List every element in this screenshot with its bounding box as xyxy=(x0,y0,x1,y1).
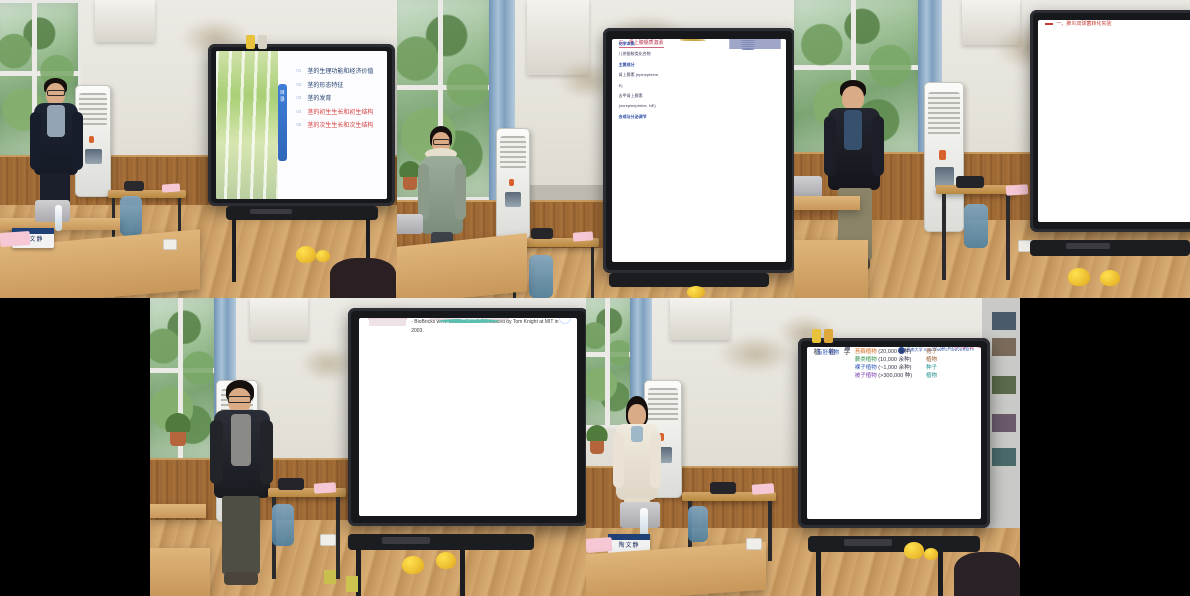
board-screen[interactable]: 植 物 学 西南大学 SOUTHWEST UNIVERSITY 高等植物 有胚植… xyxy=(807,347,982,520)
bag-on-table xyxy=(278,478,304,490)
tree-row: 蕨类植物 (10,000 余种) xyxy=(855,355,920,363)
laptop xyxy=(794,176,822,198)
nameplate-bar xyxy=(608,534,650,540)
note-line: 去甲肾上腺素 (norepinephrine, NE) xyxy=(619,91,664,112)
water-jug xyxy=(688,506,708,542)
keyboard xyxy=(250,209,292,214)
toc-num: 04 xyxy=(296,109,301,114)
table-leg xyxy=(1006,194,1010,280)
classroom-scene-2: 三、肾上腺髓质激素 化学本质 儿茶酚胺类化合物 主要成分 肾上腺素 (epine… xyxy=(397,0,794,298)
inner-sweater xyxy=(47,105,65,137)
panel-bottom-right: 陶文静 植 物 学 西南大学 SOUTHWE xyxy=(586,298,1020,596)
presenter-person xyxy=(30,78,88,208)
wall-stain xyxy=(300,346,355,382)
note-line: 肾上腺素 (epinephrine, E) xyxy=(619,70,664,91)
head xyxy=(842,86,864,110)
glasses-icon xyxy=(433,139,450,145)
bag-on-table xyxy=(531,228,553,239)
toc-num: 01 xyxy=(296,68,301,73)
photo-collage: 陶文静 目录 01茎的生理功能和经济价值 02茎的形态特征 03茎的发育 xyxy=(0,0,1190,596)
keyboard xyxy=(844,539,892,546)
board-console xyxy=(609,273,769,287)
interactive-whiteboard[interactable]: 微生物的遗传变异与育种 一、肺炎双球菌转化实验 xyxy=(1030,10,1190,232)
board-screen[interactable]: 目录 01茎的生理功能和经济价值 02茎的形态特征 03茎的发育 04茎的初生生… xyxy=(216,51,386,198)
wall-photo xyxy=(992,448,1016,466)
pink-card xyxy=(573,231,594,241)
power-outlet xyxy=(163,239,177,250)
marker-pen xyxy=(824,329,833,343)
pink-paper xyxy=(586,537,612,553)
glasses-icon xyxy=(47,90,65,96)
slide-subheader: 一、肺炎双球菌转化实验 xyxy=(1045,20,1111,27)
yellow-helmet xyxy=(316,250,330,262)
audience-head xyxy=(330,258,396,298)
toc-item: 01茎的生理功能和经济价值 xyxy=(296,66,379,75)
box xyxy=(324,570,336,584)
arm-right xyxy=(260,420,273,484)
ac-display xyxy=(505,192,521,207)
yellow-helmet xyxy=(687,286,705,298)
toc-item: 02茎的形态特征 xyxy=(296,80,379,89)
panel-top-left: 陶文静 目录 01茎的生理功能和经济价值 02茎的形态特征 03茎的发育 xyxy=(0,0,397,298)
yellow-helmet xyxy=(924,548,938,560)
toc-item: 03茎的发育 xyxy=(296,93,379,102)
arm-right xyxy=(650,432,661,488)
box xyxy=(346,576,358,592)
arm-left xyxy=(210,420,223,484)
interactive-whiteboard[interactable]: 三、肾上腺髓质激素 化学本质 儿茶酚胺类化合物 主要成分 肾上腺素 (epine… xyxy=(603,28,794,273)
wall-photo xyxy=(992,414,1016,432)
arm-left xyxy=(30,112,41,170)
wall-photo xyxy=(992,376,1016,394)
group-label-vascular: 维管植物 xyxy=(960,347,972,351)
keyboard xyxy=(382,537,430,544)
pathway-step xyxy=(729,47,781,49)
board-console xyxy=(1030,240,1190,256)
air-conditioner xyxy=(496,128,530,240)
power-outlet xyxy=(320,534,336,546)
board-screen[interactable]: 微生物的遗传变异与育种 一、肺炎双球菌转化实验 xyxy=(1038,20,1190,222)
slide-side-table xyxy=(368,318,407,320)
classroom-scene-5: 陶文静 植 物 学 西南大学 SOUTHWE xyxy=(586,298,1020,596)
toc-text: 茎的次生生长和次生结构 xyxy=(307,120,373,129)
nerve-illustration xyxy=(680,39,706,41)
shoes xyxy=(224,572,258,585)
board-console xyxy=(226,206,378,220)
board-leg xyxy=(460,550,465,596)
front-desk xyxy=(794,196,860,210)
arm-right xyxy=(72,112,83,170)
yellow-helmet xyxy=(402,556,424,574)
bag-on-table xyxy=(956,176,984,188)
interactive-whiteboard[interactable]: 植 物 学 西南大学 SOUTHWEST UNIVERSITY 高等植物 有胚植… xyxy=(798,338,990,528)
note-line: 主要成分 xyxy=(619,60,664,70)
slide-left-notes: 化学本质 儿茶酚胺类化合物 主要成分 肾上腺素 (epinephrine, E)… xyxy=(619,39,664,122)
tree-row: 苔藓植物 (20,000 余种) xyxy=(855,347,920,355)
arm-right xyxy=(872,116,884,176)
slide-toc: 目录 01茎的生理功能和经济价值 02茎的形态特征 03茎的发育 04茎的初生生… xyxy=(216,51,386,198)
tree-row: 被子植物 (>300,000 种) xyxy=(855,371,920,379)
brace-icon xyxy=(845,347,850,349)
toc-text: 茎的发育 xyxy=(307,93,331,102)
table-leg xyxy=(768,501,772,561)
yellow-helmet xyxy=(1100,270,1120,286)
table-row xyxy=(369,325,406,326)
board-screen[interactable]: 三、肾上腺髓质激素 化学本质 儿茶酚胺类化合物 主要成分 肾上腺素 (epine… xyxy=(612,39,787,262)
wall-soffit xyxy=(95,0,155,42)
classroom-scene-3: 微生物的遗传变异与育种 一、肺炎双球菌转化实验 xyxy=(794,0,1190,298)
letterbox-right xyxy=(1020,298,1190,596)
toc-item: 05茎的次生生长和次生结构 xyxy=(296,120,379,129)
front-desk xyxy=(150,504,206,518)
board-leg xyxy=(816,552,821,596)
power-outlet xyxy=(746,538,762,550)
toc-text: 茎的形态特征 xyxy=(307,80,343,89)
water-jug xyxy=(529,255,553,298)
inner-shirt xyxy=(631,426,643,442)
toc-item: 04茎的初生生长和初生结构 xyxy=(296,107,379,116)
marker-pen xyxy=(812,329,821,343)
slide-photo xyxy=(216,51,277,198)
taxon-count: (>300,000 种) xyxy=(878,373,912,379)
panel-top-right: 微生物的遗传变异与育种 一、肺炎双球菌转化实验 xyxy=(794,0,1190,298)
pink-card xyxy=(752,483,775,495)
toc-num: 05 xyxy=(296,122,301,127)
board-screen[interactable]: 1.4.3 BioBricks 标准 · BioBricks were desc… xyxy=(359,318,577,516)
water-jug xyxy=(964,204,988,248)
pink-card xyxy=(1006,184,1029,196)
yellow-helmet xyxy=(296,246,316,263)
tree-row: 裸子植物 (~1,000 余种) xyxy=(855,363,920,371)
marker-pen xyxy=(246,35,255,49)
note-label: 主要成分 xyxy=(619,62,635,67)
ac-vents xyxy=(500,136,526,169)
bag-on-table xyxy=(124,181,144,191)
group-label: 种子植物 xyxy=(924,363,938,379)
water-jug xyxy=(120,196,142,236)
pink-paper xyxy=(0,231,30,247)
laptop xyxy=(397,214,423,234)
board-console xyxy=(348,534,534,550)
arm-left xyxy=(824,116,836,176)
note-line: 合成与分泌调节 xyxy=(619,112,664,122)
toc-num: 02 xyxy=(296,82,301,87)
long-desk xyxy=(150,548,210,596)
panel-top-center: 三、肾上腺髓质激素 化学本质 儿茶酚胺类化合物 主要成分 肾上腺素 (epine… xyxy=(397,0,794,298)
glasses-icon xyxy=(228,396,251,403)
audience-head xyxy=(954,552,1020,596)
board-console xyxy=(808,536,980,552)
toc-sidebar-tab: 目录 xyxy=(278,84,288,161)
ac-vents xyxy=(928,92,959,136)
potted-plant xyxy=(170,430,186,446)
wall-photo xyxy=(992,338,1016,356)
toc-text: 茎的初生生长和初生结构 xyxy=(307,107,373,116)
note-line: 儿茶酚胺类化合物 xyxy=(619,49,664,59)
long-desk xyxy=(794,240,868,298)
note-line: 化学本质 xyxy=(619,39,664,49)
table-leg xyxy=(591,247,594,298)
note-label: 合成与分泌调节 xyxy=(619,114,647,119)
classroom-scene-4: 1.4.3 BioBricks 标准 · BioBricks were desc… xyxy=(150,298,586,596)
note-label: 化学本质 xyxy=(619,41,635,46)
interactive-whiteboard[interactable]: 目录 01茎的生理功能和经济价值 02茎的形态特征 03茎的发育 04茎的初生生… xyxy=(208,44,395,206)
keyboard xyxy=(1066,243,1110,249)
yellow-helmet xyxy=(1068,268,1090,286)
arm-left xyxy=(613,432,624,488)
laptop xyxy=(35,200,70,222)
bag-on-table xyxy=(710,482,736,494)
table-leg xyxy=(336,497,340,579)
table-leg xyxy=(942,194,946,280)
interactive-whiteboard[interactable]: 1.4.3 BioBricks 标准 · BioBricks were desc… xyxy=(348,308,586,526)
presenter-person xyxy=(419,126,471,250)
legs-trousers xyxy=(222,496,260,574)
water-jug xyxy=(272,504,294,546)
arm-right xyxy=(455,164,466,220)
inner-shirt xyxy=(844,110,862,150)
taxon-name: 被子植物 xyxy=(855,373,877,379)
ac-indicator xyxy=(509,179,514,187)
toc-num: 03 xyxy=(296,95,301,100)
inner-shirt xyxy=(231,414,251,466)
wall-soffit xyxy=(250,298,308,340)
yellow-helmet xyxy=(904,542,924,559)
panel-bottom-left: 1.4.3 BioBricks 标准 · BioBricks were desc… xyxy=(150,298,586,596)
wall-photo xyxy=(992,312,1016,330)
wall-soffit xyxy=(670,298,730,340)
footer-text: Plant Genome Editing Laboratory xyxy=(425,318,511,321)
head xyxy=(628,404,646,426)
water-bottle xyxy=(55,205,62,231)
toc-text: 茎的生理功能和经济价值 xyxy=(307,66,373,75)
yellow-helmet xyxy=(436,552,456,569)
pink-card xyxy=(162,183,181,192)
ac-indicator xyxy=(89,136,94,144)
ac-indicator xyxy=(939,150,945,160)
potted-plant xyxy=(590,440,604,454)
marker-pen xyxy=(258,35,267,49)
potted-plant xyxy=(403,176,417,190)
arm-left xyxy=(418,164,429,220)
slide-toc-list: 目录 01茎的生理功能和经济价值 02茎的形态特征 03茎的发育 04茎的初生生… xyxy=(278,51,387,198)
board-leg xyxy=(232,220,236,282)
root-label: 有胚植物 xyxy=(817,347,840,359)
classroom-scene-1: 陶文静 目录 01茎的生理功能和经济价值 02茎的形态特征 03茎的发育 xyxy=(0,0,397,298)
pink-card xyxy=(314,482,337,494)
tree-root-labels: 高等植物 有胚植物 xyxy=(817,347,840,359)
board-leg xyxy=(938,552,943,596)
letterbox-left xyxy=(0,298,150,596)
